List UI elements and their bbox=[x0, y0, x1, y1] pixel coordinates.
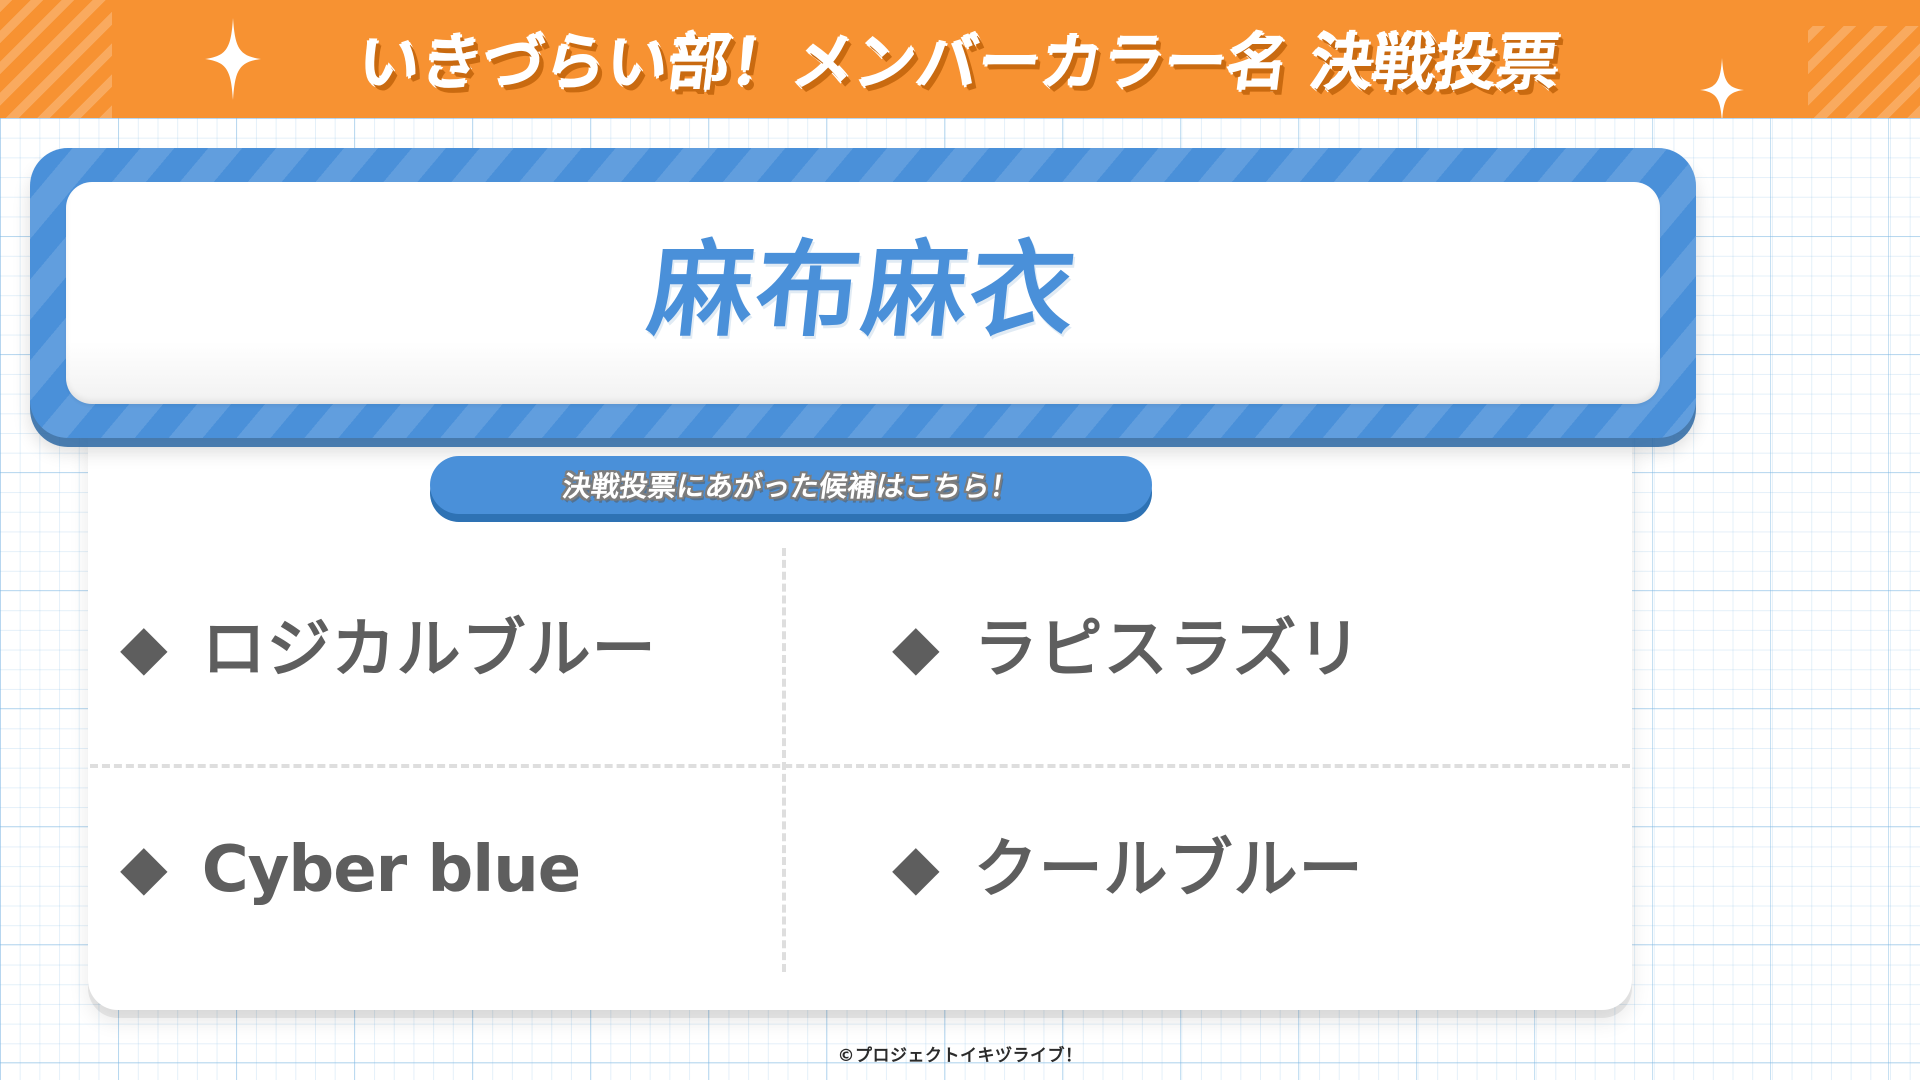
vote-result-page: いきづらい部！メンバーカラー名 決戦投票 麻布麻衣 決戦投票にあがった候補はこち… bbox=[0, 0, 1920, 1080]
diamond-icon: ◆ bbox=[120, 836, 168, 898]
candidate-option-1[interactable]: ◆ ロジカルブルー bbox=[88, 540, 860, 760]
candidate-label: ラピスラズリ bbox=[974, 618, 1363, 682]
candidates-badge: 決戦投票にあがった候補はこちら！ bbox=[430, 456, 1152, 514]
candidates-badge-label: 決戦投票にあがった候補はこちら！ bbox=[560, 465, 1022, 505]
member-name-panel: 麻布麻衣 bbox=[66, 182, 1660, 404]
candidate-label: ロジカルブルー bbox=[202, 618, 657, 682]
candidate-grid: ◆ ロジカルブルー ◆ ラピスラズリ ◆ Cyber blue ◆ クールブルー bbox=[88, 540, 1632, 980]
candidate-label: クールブルー bbox=[974, 838, 1364, 902]
diamond-icon: ◆ bbox=[120, 616, 168, 678]
candidate-option-2[interactable]: ◆ ラピスラズリ bbox=[860, 540, 1632, 760]
candidate-option-3[interactable]: ◆ Cyber blue bbox=[88, 760, 860, 980]
diamond-icon: ◆ bbox=[892, 616, 940, 678]
footer: ©プロジェクトイキヅライブ！ bbox=[0, 1041, 1920, 1066]
header-title-wrap: いきづらい部！メンバーカラー名 決戦投票 bbox=[0, 0, 1920, 118]
page-header: いきづらい部！メンバーカラー名 決戦投票 bbox=[0, 0, 1920, 118]
candidate-option-4[interactable]: ◆ クールブルー bbox=[860, 760, 1632, 980]
page-title: いきづらい部！メンバーカラー名 決戦投票 bbox=[354, 13, 1566, 106]
member-name-card: 麻布麻衣 bbox=[30, 148, 1696, 438]
candidate-label: Cyber blue bbox=[202, 838, 580, 902]
diamond-icon: ◆ bbox=[892, 836, 940, 898]
copyright-text: ©プロジェクトイキヅライブ！ bbox=[838, 1046, 1083, 1066]
member-name: 麻布麻衣 bbox=[643, 238, 1083, 348]
